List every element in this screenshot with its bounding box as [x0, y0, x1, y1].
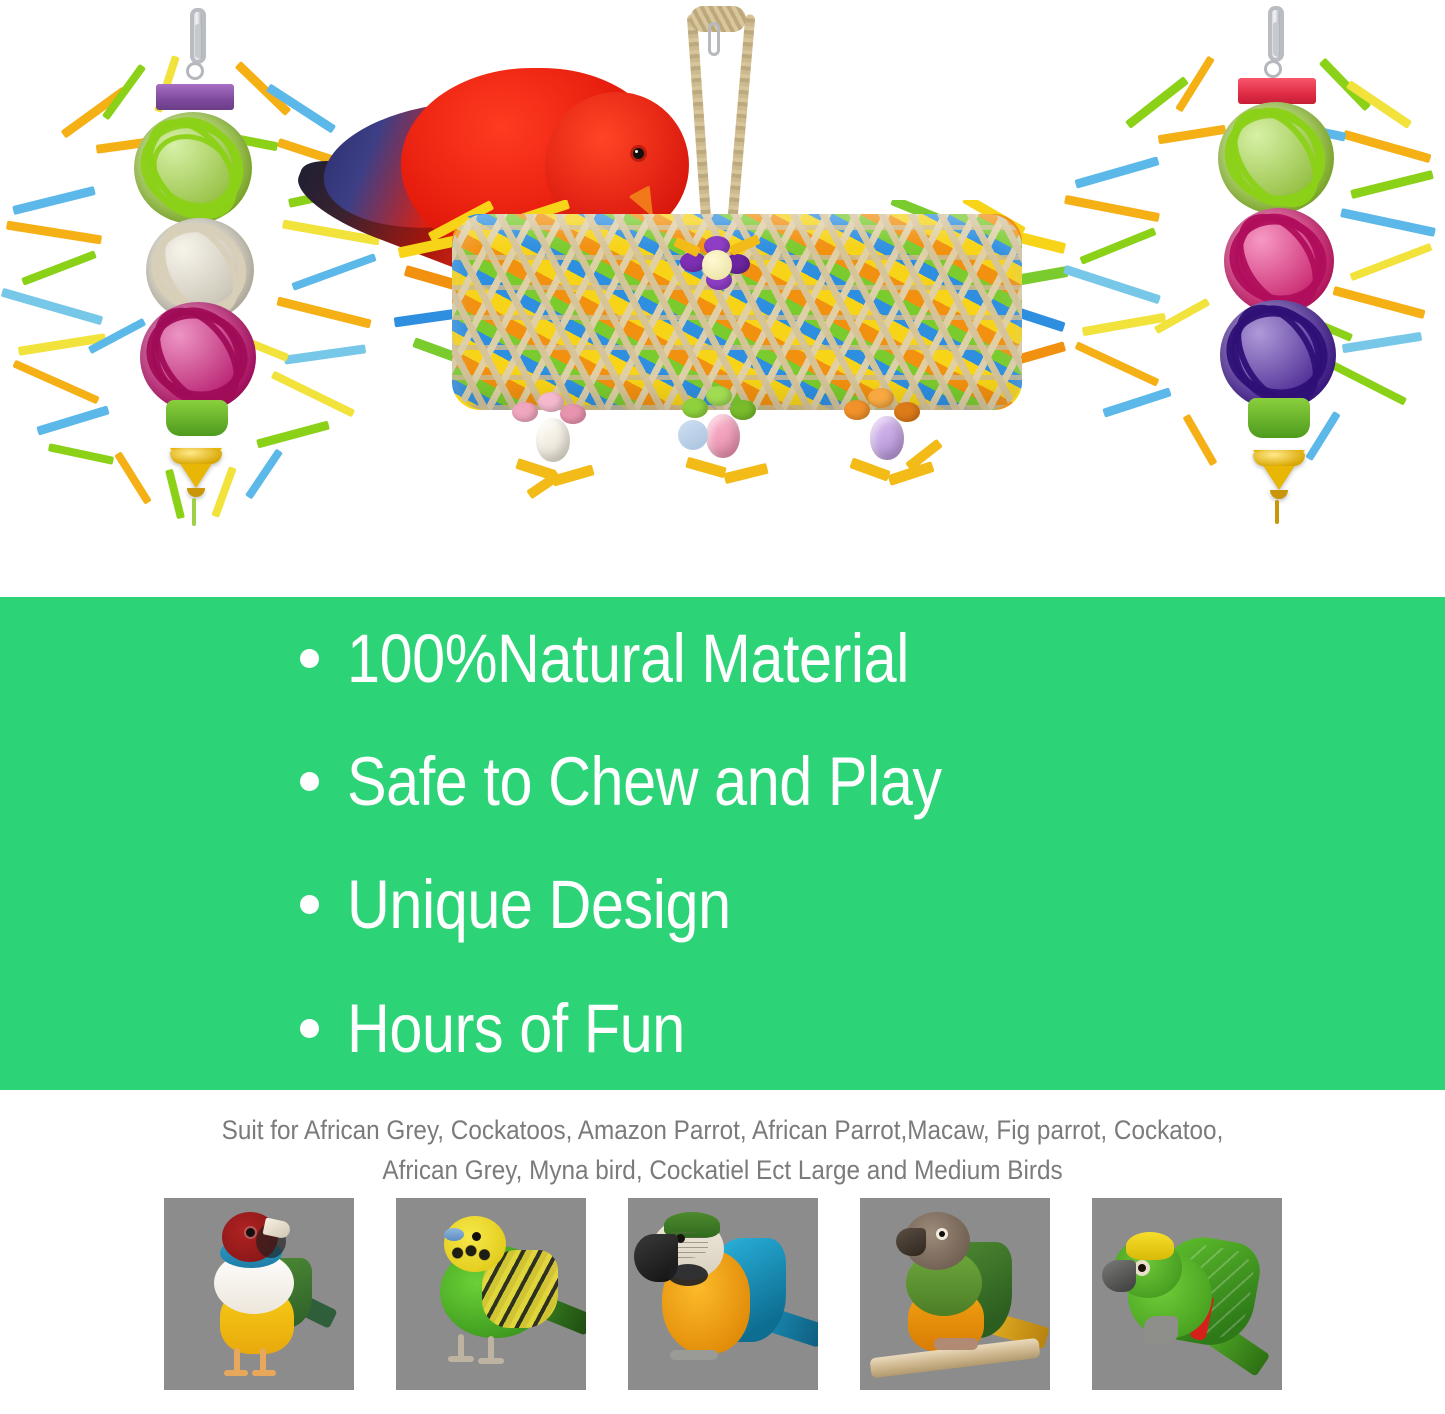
thumbnail-yellow-crowned-amazon[interactable] [1092, 1198, 1282, 1390]
hanging-bead-green [680, 386, 776, 520]
thumbnail-gouldian-finch[interactable] [164, 1198, 354, 1390]
right-toy [1060, 0, 1445, 580]
wood-block [156, 84, 234, 110]
feature-item-2: Unique Design [0, 843, 1445, 966]
wood-block [1238, 78, 1316, 104]
bell-icon [1253, 450, 1305, 490]
bullet-icon [300, 772, 319, 791]
macaw-foot [670, 1350, 718, 1360]
senegal-foot [934, 1338, 978, 1350]
flower-bead-purple [680, 236, 752, 298]
thumbnail-budgerigar[interactable] [396, 1198, 586, 1390]
amazon-beak [1102, 1260, 1136, 1292]
feature-label: Safe to Chew and Play [347, 747, 942, 816]
hanging-bead-orange [842, 388, 940, 522]
rattan-ball-pink [1224, 208, 1334, 314]
budgie-cheek-spots [450, 1242, 492, 1264]
feature-item-3: Hours of Fun [0, 966, 1445, 1090]
bell-clapper [192, 498, 196, 526]
feature-label: 100%Natural Material [347, 624, 909, 693]
clip-icon [1268, 6, 1284, 62]
hero-product-photo [0, 0, 1445, 597]
bell-clapper [1275, 500, 1279, 524]
caption-line-1: Suit for African Grey, Cockatoos, Amazon… [72, 1110, 1373, 1150]
clip-icon [190, 8, 206, 64]
wood-bead-green [1248, 398, 1310, 438]
bell-icon [170, 448, 222, 488]
feature-banner: 100%Natural Material Safe to Chew and Pl… [0, 597, 1445, 1090]
bullet-icon [300, 895, 319, 914]
amazon-foot [1144, 1316, 1178, 1344]
caption-line-2: African Grey, Myna bird, Cockatiel Ect L… [72, 1150, 1373, 1190]
budgie-foot-left [448, 1356, 474, 1362]
bird-species-strip [0, 1198, 1445, 1390]
compatibility-caption: Suit for African Grey, Cockatoos, Amazon… [0, 1110, 1445, 1190]
feature-label: Hours of Fun [347, 994, 685, 1063]
rattan-ball-purple [1220, 300, 1336, 410]
macaw-throat [668, 1264, 708, 1286]
hanging-bead-pink [508, 392, 604, 522]
rope-clip-icon [708, 22, 720, 56]
rattan-ball-green [1218, 102, 1334, 214]
wood-bead-green [166, 400, 228, 436]
amazon-eye [1138, 1264, 1146, 1272]
budgie-foot-right [478, 1358, 504, 1364]
thumbnail-blue-and-gold-macaw[interactable] [628, 1198, 818, 1390]
bullet-icon [300, 1019, 319, 1038]
finch-foot-left [224, 1370, 248, 1376]
rattan-ball-magenta [140, 302, 256, 412]
budgie-eye [472, 1232, 481, 1241]
finch-foot-right [252, 1370, 276, 1376]
bullet-icon [300, 649, 319, 668]
rattan-ball-green [134, 112, 252, 224]
senegal-beak [896, 1228, 926, 1256]
senegal-pupil [939, 1231, 945, 1237]
feature-item-1: Safe to Chew and Play [0, 720, 1445, 843]
budgie-cere [444, 1228, 464, 1241]
finch-eye [246, 1228, 255, 1237]
amazon-crown [1126, 1232, 1174, 1260]
center-toy [390, 0, 1080, 560]
feature-item-0: 100%Natural Material [0, 597, 1445, 720]
thumbnail-senegal-parrot[interactable] [860, 1198, 1050, 1390]
feature-label: Unique Design [347, 870, 731, 939]
